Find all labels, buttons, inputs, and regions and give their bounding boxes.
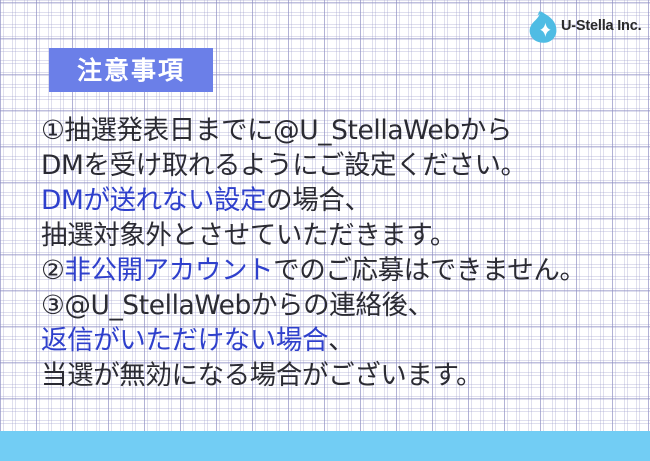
- notice-text: でのご応募はできません。: [273, 255, 585, 286]
- section-title-badge: 注意事項: [49, 48, 213, 92]
- notice-text: 当選が無効になる場合がございます。: [41, 360, 482, 391]
- notice-line: ①抽選発表日までに@U_StellaWebから: [41, 113, 616, 148]
- notice-line: 当選が無効になる場合がございます。: [41, 358, 616, 393]
- water-droplet-sparkle-icon: [528, 10, 558, 44]
- notice-text: DMを受け取れるようにご設定ください。: [41, 150, 527, 181]
- bottom-accent-bar: [0, 431, 650, 461]
- slide-canvas: U-Stella Inc. 注意事項 ①抽選発表日までに@U_StellaWeb…: [0, 0, 650, 461]
- notice-highlight-text: 非公開アカウント: [64, 255, 273, 286]
- company-logo: U-Stella Inc.: [528, 10, 641, 44]
- notice-line: DMが送れない設定の場合、: [41, 183, 616, 218]
- notice-line: DMを受け取れるようにご設定ください。: [41, 148, 616, 183]
- notice-text: ③@U_StellaWebからの連絡後、: [41, 290, 434, 321]
- notice-body: ①抽選発表日までに@U_StellaWebからDMを受け取れるようにご設定くださ…: [41, 113, 616, 393]
- notice-highlight-text: 返信がいただけない場合: [41, 325, 328, 356]
- notice-line: 抽選対象外とさせていただきます。: [41, 218, 616, 253]
- notice-text: の場合、: [266, 185, 370, 216]
- notice-text: ①抽選発表日までに@U_StellaWebから: [41, 115, 512, 146]
- notice-line: 返信がいただけない場合、: [41, 323, 616, 358]
- notice-text: 抽選対象外とさせていただきます。: [41, 220, 456, 251]
- notice-line: ②非公開アカウントでのご応募はできません。: [41, 253, 616, 288]
- section-title-text: 注意事項: [77, 58, 185, 83]
- notice-text: 、: [328, 325, 354, 356]
- logo-wordmark: U-Stella Inc.: [561, 19, 641, 35]
- notice-text: ②: [41, 255, 64, 286]
- notice-line: ③@U_StellaWebからの連絡後、: [41, 288, 616, 323]
- notice-highlight-text: DMが送れない設定: [41, 185, 266, 216]
